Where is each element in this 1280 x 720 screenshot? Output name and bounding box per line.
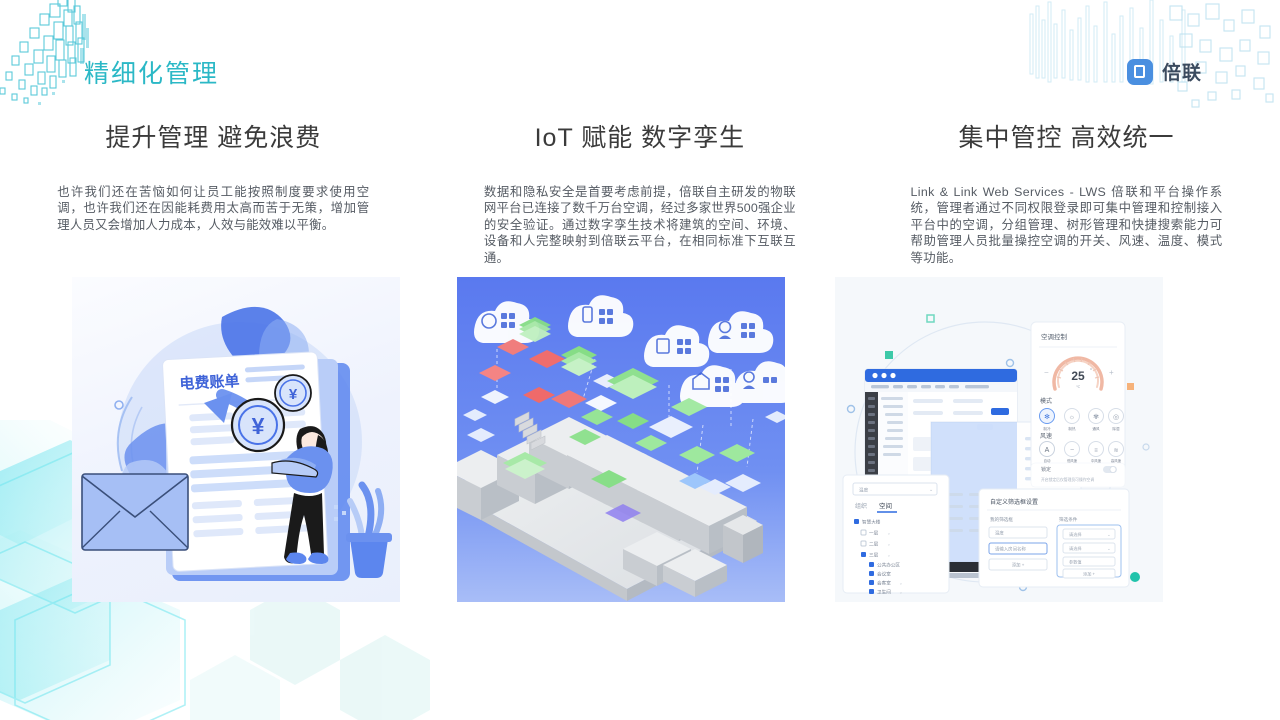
- svg-text:✻: ✻: [1044, 413, 1050, 421]
- filter-left-label: 我的筛选框: [990, 516, 1013, 523]
- digital-twin-isometric-illustration: [457, 277, 785, 602]
- svg-text:⌄: ⌄: [899, 590, 903, 595]
- svg-text:⌄: ⌄: [887, 531, 891, 536]
- svg-text:−: −: [1044, 368, 1049, 377]
- tree-node-0: 智慧大楼: [862, 519, 881, 526]
- column-1-body: 也许我们还在苦恼如何让员工能按照制度要求使用空调，也许我们还在因能耗费用太高而苦…: [57, 184, 369, 233]
- svg-text:中风速: 中风速: [1091, 458, 1102, 463]
- svg-text:A: A: [1045, 447, 1050, 454]
- slide-root: 精细化管理 倍联 提升管理 避免浪费 也许我们还在苦恼如何让员工能按照制度要求使…: [0, 0, 1280, 720]
- page-title: 精细化管理: [84, 54, 219, 90]
- filter-add-left: 添加 +: [1012, 562, 1025, 569]
- svg-text:℃: ℃: [1076, 385, 1080, 389]
- lws-console-illustration: 空调控制 25 ° ℃ − + 模式: [835, 277, 1163, 602]
- ac-panel-title: 空调控制: [1041, 332, 1068, 341]
- svg-text:⌄: ⌄: [887, 542, 891, 547]
- column-2: IoT 赋能 数字孪生 数据和隐私安全是首要考虑前提，倍联自主研发的物联网平台已…: [427, 118, 854, 266]
- svg-text:°: °: [1090, 368, 1092, 374]
- tree-dropdown-value: 温度: [859, 487, 869, 494]
- svg-text:制冷: 制冷: [1043, 426, 1051, 431]
- filter-right-field-0: 请选择: [1069, 531, 1082, 538]
- filter-right-field-2: 参数值: [1069, 559, 1082, 566]
- svg-text:◎: ◎: [1113, 414, 1119, 421]
- svg-text:⌄: ⌄: [929, 487, 933, 493]
- tree-node-4: 公共办公区: [877, 562, 900, 569]
- ac-temperature-value: 25: [1071, 369, 1085, 383]
- filter-left-field-0: 温度: [995, 530, 1004, 537]
- ac-lock-label: 锁定: [1041, 466, 1051, 473]
- envelope-icon: [82, 474, 188, 550]
- custom-filter-dialog: 自定义筛选框设置 我的筛选框 筛选条件 温度 请输入房间名称 添加 + 请选择⌄…: [979, 489, 1129, 587]
- filter-left-field-1: 请输入房间名称: [995, 546, 1026, 553]
- filter-dialog-title: 自定义筛选框设置: [990, 498, 1038, 506]
- svg-text:低风速: 低风速: [1067, 458, 1078, 463]
- svg-text:自动: 自动: [1044, 458, 1051, 463]
- ac-fan-label: 风速: [1040, 433, 1052, 440]
- tree-node-5: 会议室: [877, 571, 891, 578]
- tree-tab-group: 组织: [855, 502, 867, 510]
- svg-text:✾: ✾: [1093, 413, 1099, 421]
- column-1: 提升管理 避免浪费 也许我们还在苦恼如何让员工能按照制度要求使用空调，也许我们还…: [0, 118, 427, 266]
- svg-text:☼: ☼: [1069, 414, 1075, 421]
- svg-text:除湿: 除湿: [1112, 426, 1120, 431]
- column-3: 集中管控 高效统一 Link & Link Web Services - LWS…: [853, 118, 1280, 266]
- tree-node-6: 会客室: [877, 580, 891, 587]
- electricity-bill-illustration: 电费账单: [72, 277, 400, 602]
- ac-control-panel: 空调控制 25 ° ℃ − + 模式: [1031, 322, 1125, 472]
- svg-text:−: −: [1070, 447, 1074, 454]
- filter-right-field-1: 请选择: [1069, 545, 1082, 552]
- illustration-row: 电费账单: [0, 277, 1280, 607]
- svg-text:≡: ≡: [1094, 448, 1098, 454]
- filter-add-right: 添加 +: [1083, 571, 1096, 578]
- ac-mode-label: 模式: [1040, 397, 1052, 405]
- svg-text:制热: 制热: [1068, 426, 1076, 431]
- content-columns: 提升管理 避免浪费 也许我们还在苦恼如何让员工能按照制度要求使用空调，也许我们还…: [0, 118, 1280, 266]
- svg-text:⌄: ⌄: [887, 553, 891, 558]
- svg-text:≋: ≋: [1113, 448, 1118, 454]
- tree-node-7: 卫生间: [877, 589, 891, 596]
- tree-filter-panel: 温度 ⌄ 组织 空间 智慧大楼 一层⌄ 二层⌄ 三层⌄ 公共办公区 会议室 会客…: [843, 475, 949, 596]
- brand-name: 倍联: [1162, 58, 1202, 85]
- brand-logo: 倍联: [1127, 58, 1202, 85]
- svg-text:高风速: 高风速: [1111, 458, 1122, 463]
- svg-text:⌄: ⌄: [1107, 532, 1111, 537]
- svg-text:¥: ¥: [252, 413, 265, 439]
- svg-text:电费账单: 电费账单: [179, 372, 240, 393]
- svg-text:⌄: ⌄: [1107, 546, 1111, 551]
- svg-text:¥: ¥: [289, 386, 298, 403]
- rounded-square-logo-icon: [1127, 59, 1153, 85]
- svg-text:+: +: [1109, 368, 1114, 377]
- filter-right-label: 筛选条件: [1059, 516, 1078, 523]
- column-3-body: Link & Link Web Services - LWS 倍联和平台操作系统…: [910, 184, 1222, 266]
- ac-lock-hint: 开启锁定后仅管理员可操作空调: [1041, 477, 1094, 482]
- svg-text:⌄: ⌄: [899, 581, 903, 586]
- tree-tab-space: 空间: [879, 501, 892, 510]
- column-3-heading: 集中管控 高效统一: [959, 118, 1175, 154]
- column-2-body: 数据和隐私安全是首要考虑前提，倍联自主研发的物联网平台已连接了数千万台空调，经过…: [484, 184, 796, 266]
- svg-text:通风: 通风: [1092, 426, 1100, 431]
- column-1-heading: 提升管理 避免浪费: [105, 118, 321, 154]
- column-2-heading: IoT 赋能 数字孪生: [535, 118, 746, 154]
